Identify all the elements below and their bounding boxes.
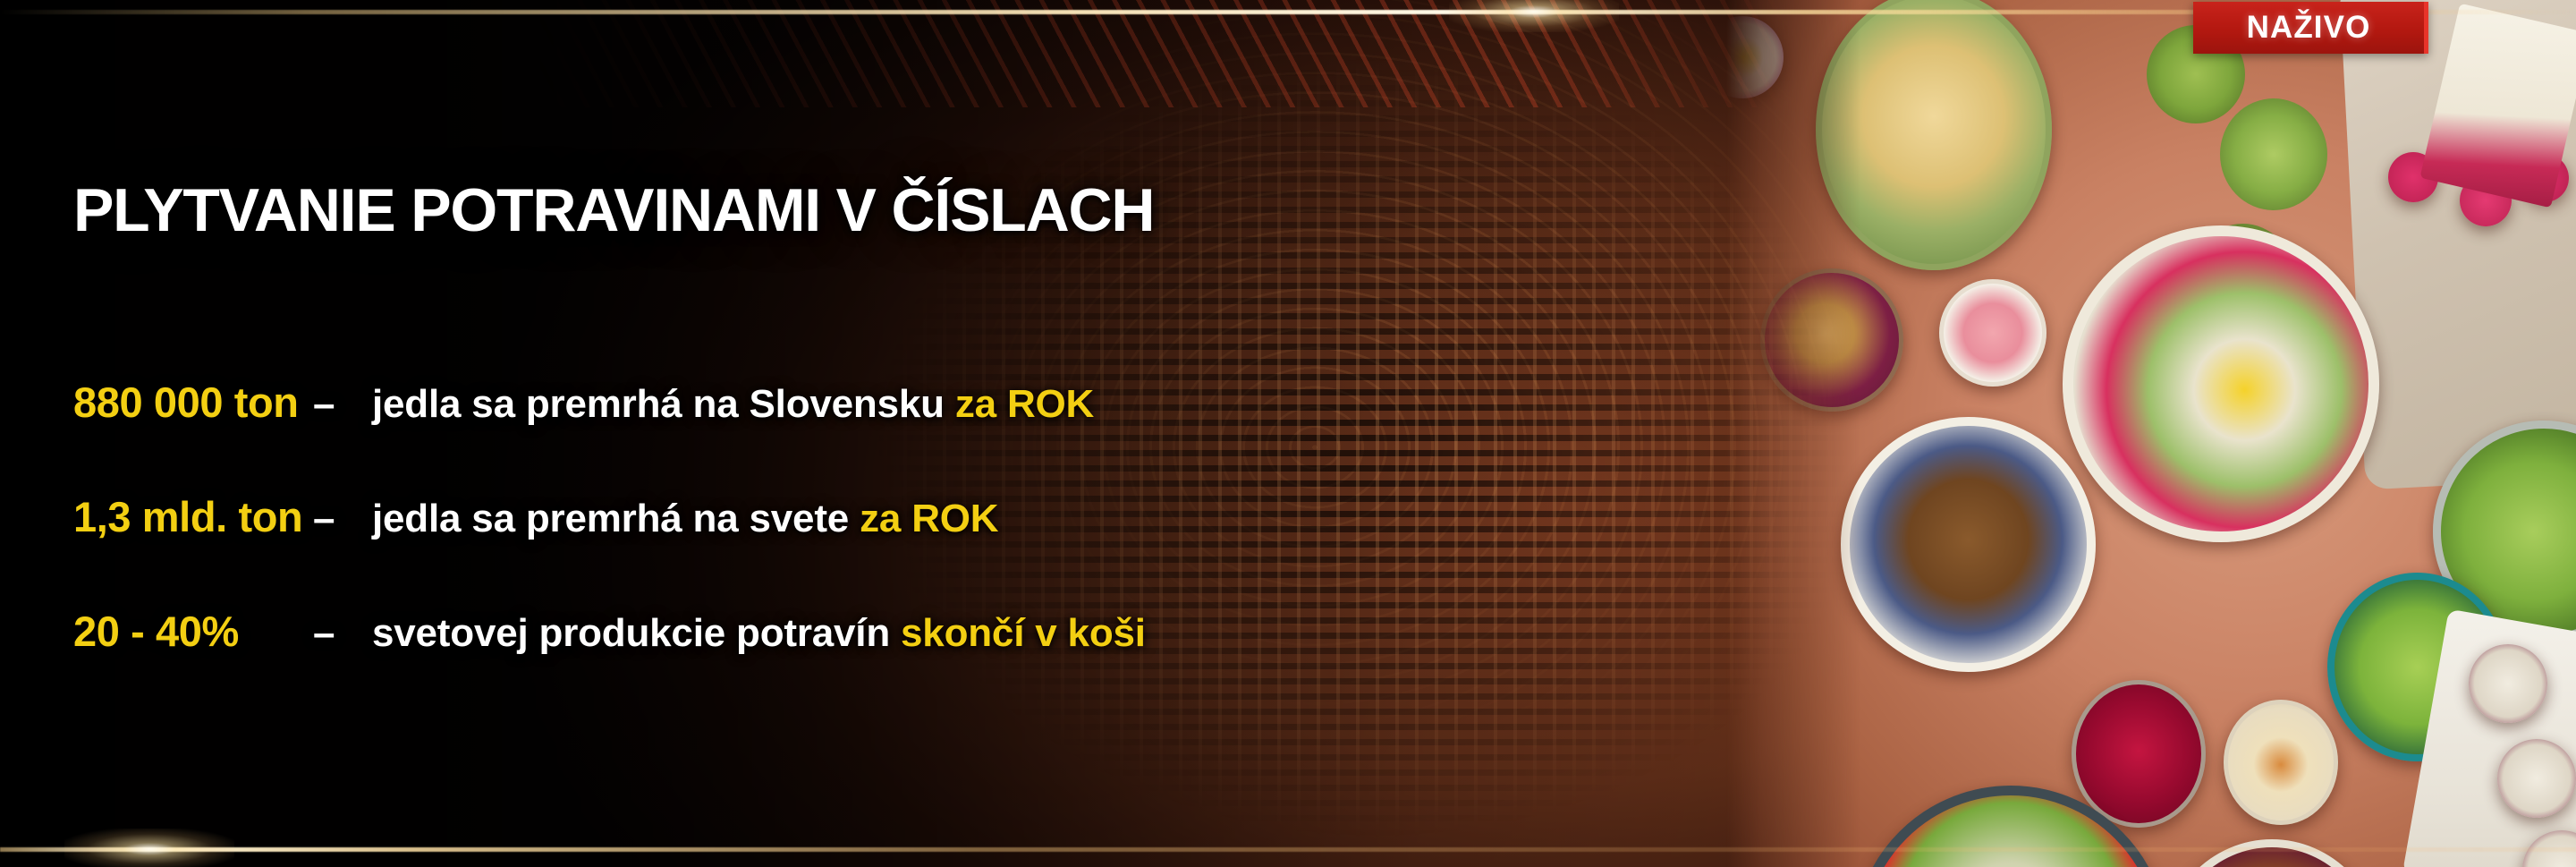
statistic-description-highlight: za ROK xyxy=(860,497,998,540)
page-title: PLYTVANIE POTRAVINAMI V ČÍSLACH xyxy=(73,175,1154,245)
statistic-description-highlight: skončí v koši xyxy=(901,611,1146,655)
statistic-value: 880 000 ton xyxy=(73,378,313,427)
statistics-list: 880 000 ton – jedla sa premrhá na Sloven… xyxy=(73,378,1146,666)
lens-flare-top xyxy=(1449,0,1619,32)
statistic-description-highlight: za ROK xyxy=(955,382,1094,426)
statistic-description: jedla sa premrhá na svete za ROK xyxy=(372,497,998,541)
statistic-row: 20 - 40% – svetovej produkcie potravín s… xyxy=(73,607,1146,666)
statistic-description: jedla sa premrhá na Slovensku za ROK xyxy=(372,382,1094,427)
gold-light-streak-bottom xyxy=(0,847,2576,852)
live-badge-label: NAŽIVO xyxy=(2247,10,2371,46)
gold-light-streak-top xyxy=(0,10,2576,14)
lens-flare-bottom xyxy=(64,829,234,867)
live-badge: NAŽIVO xyxy=(2193,2,2428,54)
statistic-row: 880 000 ton – jedla sa premrhá na Sloven… xyxy=(73,378,1146,437)
statistic-description: svetovej produkcie potravín skončí v koš… xyxy=(372,611,1146,656)
dash-separator: – xyxy=(313,497,372,541)
statistic-description-plain: svetovej produkcie potravín xyxy=(372,611,901,655)
statistic-value: 20 - 40% xyxy=(73,607,313,656)
broadcast-lower-third-graphic: PLYTVANIE POTRAVINAMI V ČÍSLACH 880 000 … xyxy=(0,0,2576,867)
statistic-value: 1,3 mld. ton xyxy=(73,492,313,541)
statistic-description-plain: jedla sa premrhá na svete xyxy=(372,497,860,540)
dash-separator: – xyxy=(313,382,372,427)
statistic-row: 1,3 mld. ton – jedla sa premrhá na svete… xyxy=(73,492,1146,551)
dash-separator: – xyxy=(313,611,372,656)
statistic-description-plain: jedla sa premrhá na Slovensku xyxy=(372,382,955,426)
